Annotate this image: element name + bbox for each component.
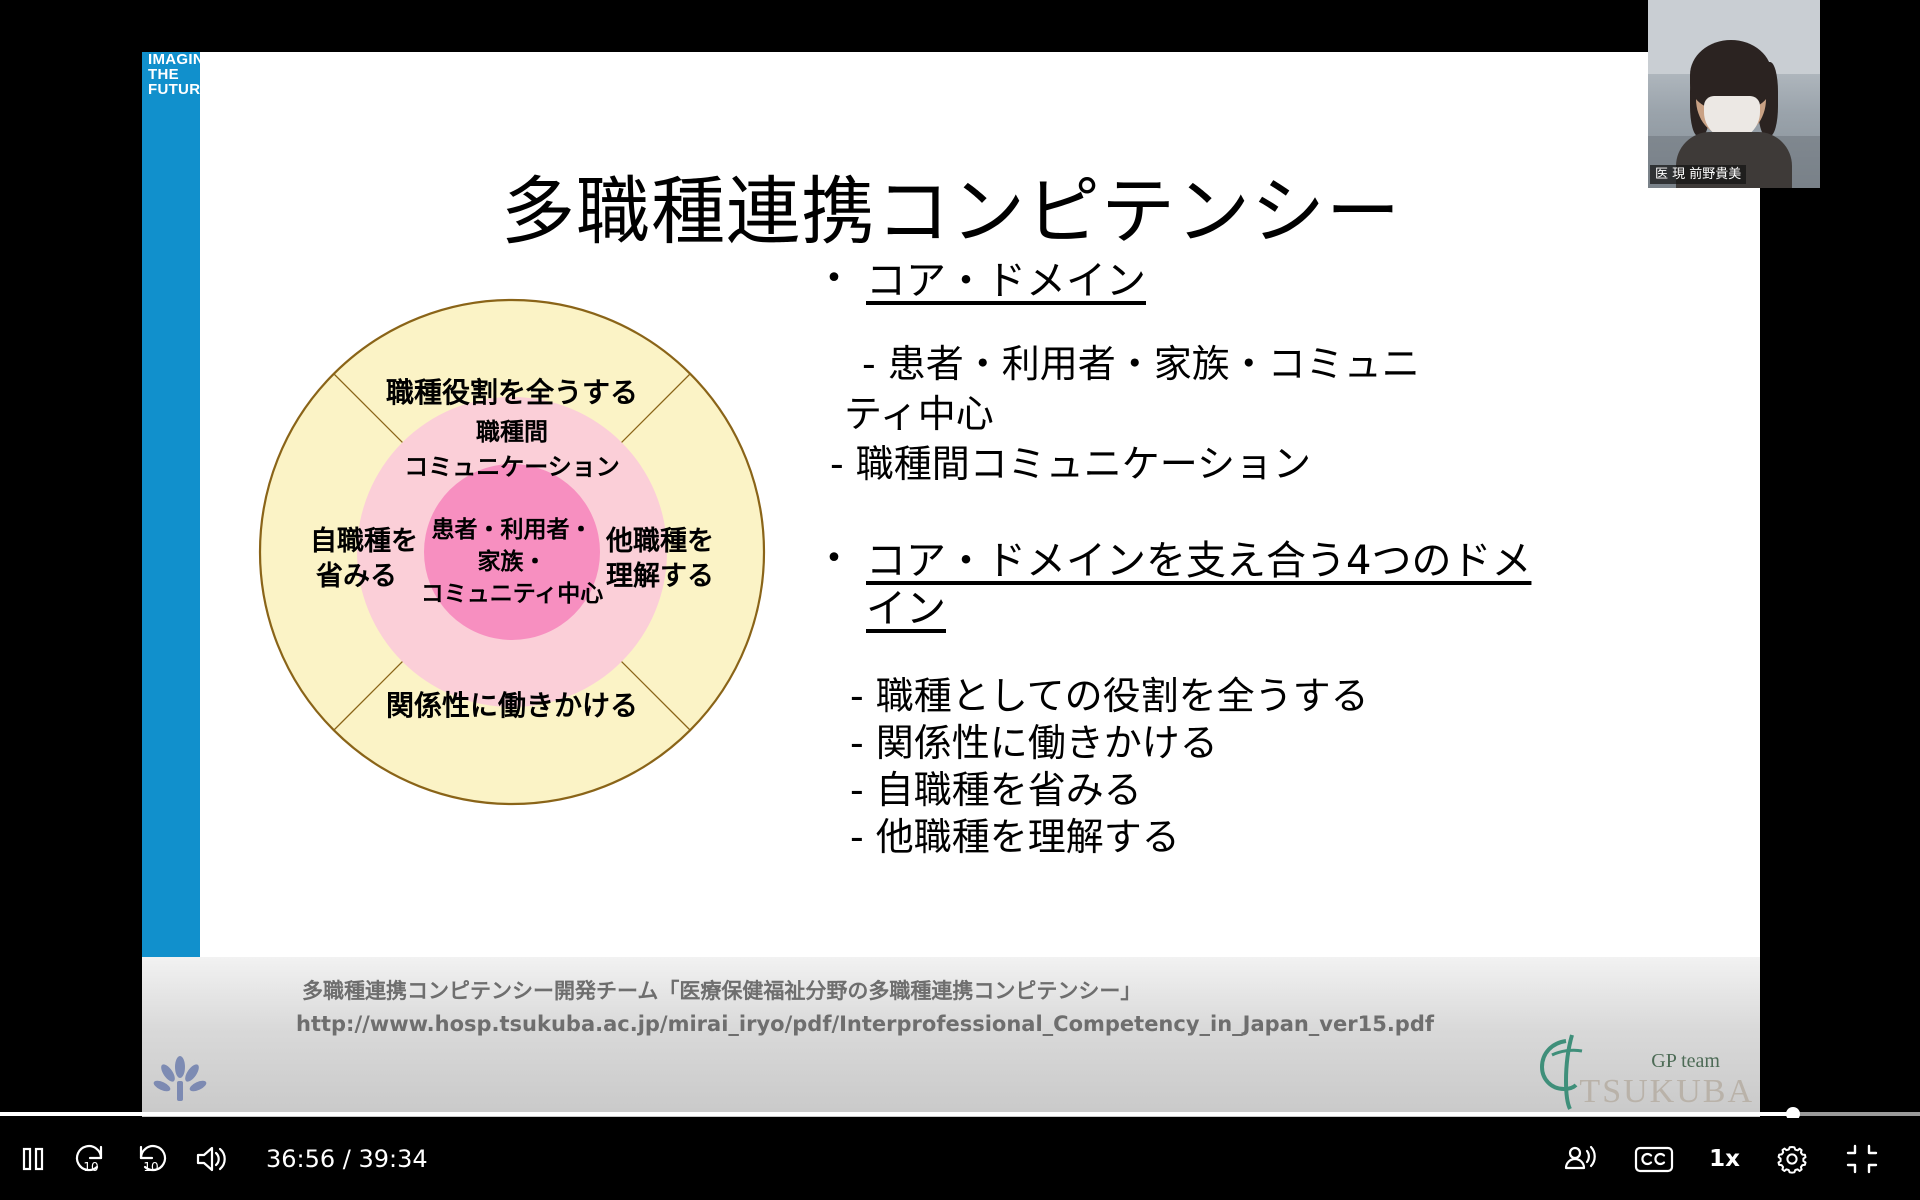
presentation-slide: IMAGINETHEFUTURE. 多職種連携コンピテンシー: [142, 52, 1760, 1117]
forward-10-button[interactable]: 10: [132, 1141, 170, 1177]
svg-text:10: 10: [83, 1160, 98, 1174]
bullet-heading-supporting-domains: コア・ドメインを支え合う4つのドメ イン: [866, 537, 1531, 633]
diagram-outer-right-label-1: 他職種を: [605, 526, 714, 557]
webcam-participant-name: 医 現 前野貴美: [1650, 165, 1746, 184]
rewind-10-button[interactable]: 10: [72, 1141, 110, 1177]
exit-fullscreen-button[interactable]: [1844, 1143, 1880, 1175]
diagram-center-label-2: 家族・: [478, 548, 547, 575]
video-stage[interactable]: IMAGINETHEFUTURE. 多職種連携コンピテンシー: [0, 0, 1920, 1118]
bullet-marker: •: [802, 537, 866, 581]
volume-button[interactable]: [192, 1142, 228, 1176]
bullet-item-core-domain: • コア・ドメイン: [802, 257, 1732, 305]
progress-track[interactable]: [0, 1112, 1920, 1116]
slide-bullet-list: • コア・ドメイン ‐ 患者・利用者・家族・コミュニ ティ中心 ‐ 職種間コミュ…: [802, 257, 1732, 861]
diagram-outer-left-label-1: 自職種を: [310, 525, 418, 557]
diagram-middle-label-1: 職種間: [476, 418, 548, 446]
domain-item: ‐ 関係性に働きかける: [850, 720, 1732, 767]
diagram-outer-top-label: 職種役割を全うする: [386, 376, 638, 409]
audio-description-button[interactable]: [1561, 1141, 1599, 1177]
domain-item: ‐ 他職種を理解する: [850, 814, 1732, 861]
svg-text:10: 10: [143, 1160, 158, 1174]
diagram-outer-right-label-2: 理解する: [606, 561, 714, 592]
bullet-domain-item-list: ‐ 職種としての役割を全うする ‐ 関係性に働きかける ‐ 自職種を省みる ‐ …: [850, 673, 1732, 861]
imagine-the-future-logo: IMAGINETHEFUTURE.: [148, 52, 248, 97]
video-player-app: IMAGINETHEFUTURE. 多職種連携コンピテンシー: [0, 0, 1920, 1200]
gp-team-label: GP team: [1651, 1050, 1720, 1073]
player-controls-left: 10 10 36:56 / 39:34: [0, 1141, 428, 1177]
pause-button[interactable]: [16, 1142, 50, 1176]
progress-filled: [0, 1112, 1793, 1116]
bullet-marker: •: [802, 257, 866, 301]
bullet-heading-core-domain: コア・ドメイン: [866, 257, 1146, 305]
progress-bar[interactable]: [0, 1110, 1920, 1118]
settings-button[interactable]: [1774, 1141, 1810, 1177]
diagram-outer-left-label-2: 省みる: [316, 561, 397, 592]
citation-text: 多職種連携コンピテンシー開発チーム「医療保健福祉分野の多職種連携コンピテンシー」…: [302, 975, 1702, 1041]
tsukuba-wordmark: TSUKUBA: [1579, 1073, 1754, 1111]
diagram-center-label-3: コミュニティ中心: [421, 581, 604, 607]
webcam-overlay[interactable]: 医 現 前野貴美: [1648, 0, 1820, 188]
bullet-sub-line-3: ‐ 職種間コミュニケーション: [830, 439, 1732, 489]
player-controls-right: 1x: [1561, 1141, 1920, 1177]
slide-citation-strip: 多職種連携コンピテンシー開発チーム「医療保健福祉分野の多職種連携コンピテンシー」…: [142, 957, 1760, 1117]
competency-diagram: 職種役割を全うする 自職種を 省みる 他職種を 理解する 関係性に働きかける 職…: [242, 297, 782, 807]
slide-title: 多職種連携コンピテンシー: [142, 152, 1760, 259]
domain-item: ‐ 職種としての役割を全うする: [850, 673, 1732, 720]
diagram-outer-bottom-label: 関係性に働きかける: [386, 689, 638, 722]
time-display: 36:56 / 39:34: [266, 1145, 428, 1173]
playback-speed-button[interactable]: 1x: [1709, 1146, 1740, 1172]
player-control-bar: 10 10 36:56 / 39:34: [0, 1118, 1920, 1200]
bullet-subitems-core-domain: ‐ 患者・利用者・家族・コミュニ ティ中心 ‐ 職種間コミュニケーション: [862, 339, 1732, 489]
domain-item: ‐ 自職種を省みる: [850, 767, 1732, 814]
citation-line-2: http://www.hosp.tsukuba.ac.jp/mirai_iryo…: [296, 1008, 1702, 1041]
bullet-heading-line-2: イン: [866, 585, 1531, 633]
diagram-middle-label-2: コミュニケーション: [404, 453, 620, 481]
bullet-item-supporting-domains: • コア・ドメインを支え合う4つのドメ イン: [802, 537, 1732, 633]
diagram-center-label-1: 患者・利用者・: [432, 516, 593, 543]
captions-button[interactable]: [1633, 1143, 1675, 1175]
tsukuba-crest-icon: [150, 1053, 210, 1105]
citation-line-1: 多職種連携コンピテンシー開発チーム「医療保健福祉分野の多職種連携コンピテンシー」: [302, 975, 1702, 1008]
bullet-heading-line-1: コア・ドメインを支え合う4つのドメ: [866, 537, 1531, 585]
bullet-sub-line-1: ‐ 患者・利用者・家族・コミュニ: [862, 339, 1732, 389]
bullet-sub-line-2: ティ中心: [844, 389, 1732, 439]
